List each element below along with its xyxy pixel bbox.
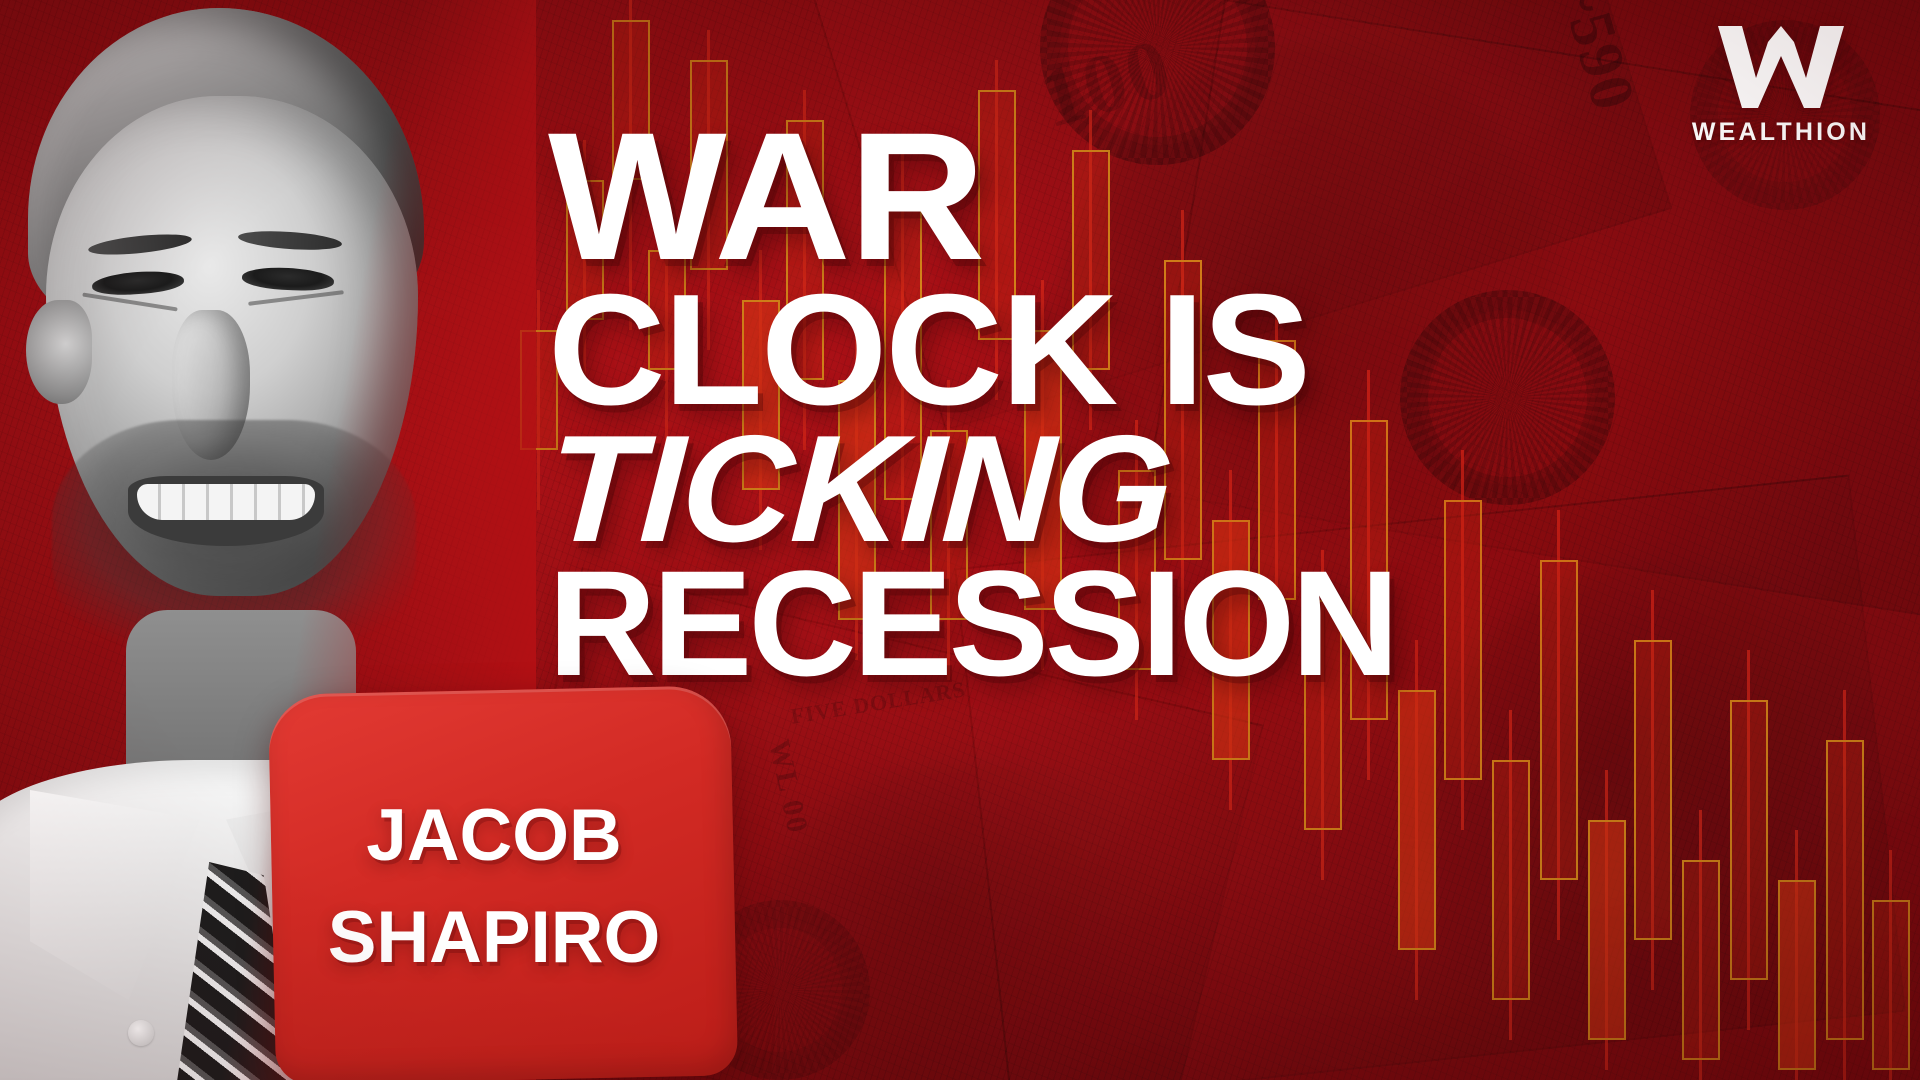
portrait-shirt-button (128, 1020, 154, 1046)
portrait-ear (26, 300, 92, 404)
guest-last-name: Shapiro (272, 878, 716, 978)
portrait-teeth (137, 484, 315, 520)
headline-line-4: RECESSION (548, 559, 1888, 688)
headline: WAR CLOCK IS TICKING RECESSION (548, 118, 1888, 688)
wealthion-w-logo-icon (1686, 22, 1876, 112)
portrait-mouth (128, 476, 324, 546)
headline-line-2: CLOCK IS (548, 283, 1920, 419)
headline-line-3: TICKING (545, 424, 1919, 555)
badge-text-group: Jacob Shapiro (272, 776, 716, 978)
wealthion-logo: WEALTHION (1686, 22, 1876, 147)
guest-first-name: Jacob (272, 776, 716, 876)
video-thumbnail: ~590 100 WL 00 FIVE DOLLARS WAR CLOCK IS… (0, 0, 1920, 1080)
guest-name-badge: Jacob Shapiro (272, 690, 734, 1080)
wealthion-wordmark: WEALTHION (1686, 118, 1876, 147)
